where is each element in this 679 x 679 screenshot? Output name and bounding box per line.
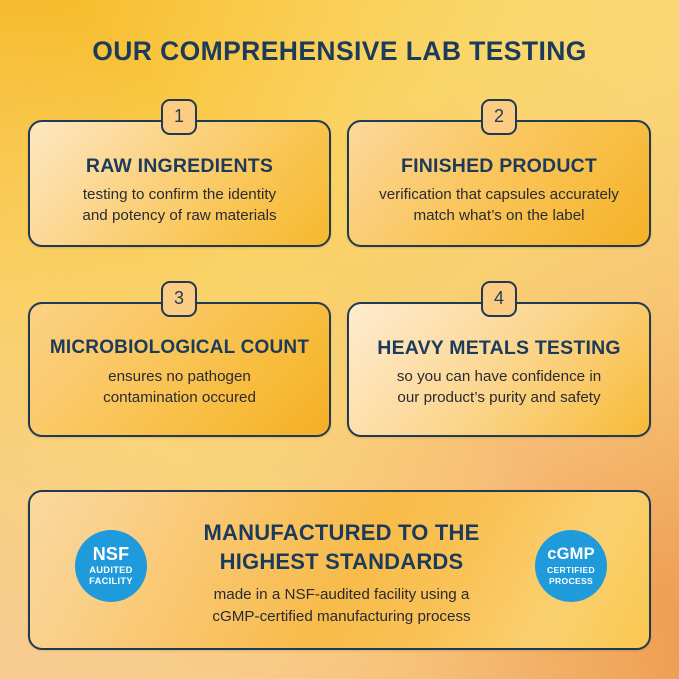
manufacturing-standards-banner: NSF AUDITED FACILITY MANUFACTURED TO THE…	[28, 490, 651, 650]
card-3-heading: MICROBIOLOGICAL COUNT	[30, 337, 329, 359]
lab-test-card-2: FINISHED PRODUCT verification that capsu…	[347, 120, 651, 247]
cgmp-certified-process-seal: cGMP CERTIFIED PROCESS	[535, 530, 607, 602]
banner-body-line-1: made in a NSF-audited facility using a	[158, 584, 525, 606]
card-3-body-line-2: contamination occured	[36, 387, 323, 408]
nsf-seal-subtitle: AUDITED FACILITY	[89, 565, 133, 588]
lab-test-card-3: MICROBIOLOGICAL COUNT ensures no pathoge…	[28, 302, 331, 437]
card-2-body: verification that capsules accurately ma…	[355, 184, 643, 226]
card-3-number-badge: 3	[161, 281, 197, 317]
banner-heading: MANUFACTURED TO THE HIGHEST STANDARDS	[170, 518, 513, 576]
nsf-audited-facility-seal: NSF AUDITED FACILITY	[75, 530, 147, 602]
banner-body: made in a NSF-audited facility using a c…	[158, 584, 525, 628]
nsf-seal-subtitle-line-1: AUDITED	[89, 565, 133, 577]
nsf-seal-title: NSF	[93, 545, 130, 564]
cgmp-seal-subtitle: CERTIFIED PROCESS	[547, 565, 595, 588]
card-1-body: testing to confirm the identity and pote…	[36, 184, 323, 226]
banner-heading-line-1: MANUFACTURED TO THE	[170, 518, 513, 547]
card-2-body-line-1: verification that capsules accurately	[355, 184, 643, 205]
card-3-body: ensures no pathogen contamination occure…	[36, 366, 323, 408]
lab-test-card-1: RAW INGREDIENTS testing to confirm the i…	[28, 120, 331, 247]
card-4-number-badge: 4	[481, 281, 517, 317]
cgmp-seal-subtitle-line-2: PROCESS	[547, 576, 595, 588]
card-3-body-line-1: ensures no pathogen	[36, 366, 323, 387]
card-1-heading: RAW INGREDIENTS	[30, 155, 329, 178]
card-2-number-badge: 2	[481, 99, 517, 135]
cgmp-seal-subtitle-line-1: CERTIFIED	[547, 565, 595, 577]
card-1-body-line-1: testing to confirm the identity	[36, 184, 323, 205]
card-2-body-line-2: match what’s on the label	[355, 205, 643, 226]
lab-testing-infographic: OUR COMPREHENSIVE LAB TESTING RAW INGRED…	[0, 0, 679, 679]
card-2-heading: FINISHED PRODUCT	[349, 155, 649, 178]
lab-test-card-4: HEAVY METALS TESTING so you can have con…	[347, 302, 651, 437]
card-4-body-line-2: our product’s purity and safety	[355, 387, 643, 408]
card-4-heading: HEAVY METALS TESTING	[349, 337, 649, 360]
banner-body-line-2: cGMP-certified manufacturing process	[158, 606, 525, 628]
card-1-body-line-2: and potency of raw materials	[36, 205, 323, 226]
card-4-body-line-1: so you can have confidence in	[355, 366, 643, 387]
cgmp-seal-title: cGMP	[547, 545, 595, 564]
nsf-seal-subtitle-line-2: FACILITY	[89, 576, 133, 588]
page-title: OUR COMPREHENSIVE LAB TESTING	[0, 36, 679, 67]
banner-heading-line-2: HIGHEST STANDARDS	[170, 547, 513, 576]
card-4-body: so you can have confidence in our produc…	[355, 366, 643, 408]
card-1-number-badge: 1	[161, 99, 197, 135]
